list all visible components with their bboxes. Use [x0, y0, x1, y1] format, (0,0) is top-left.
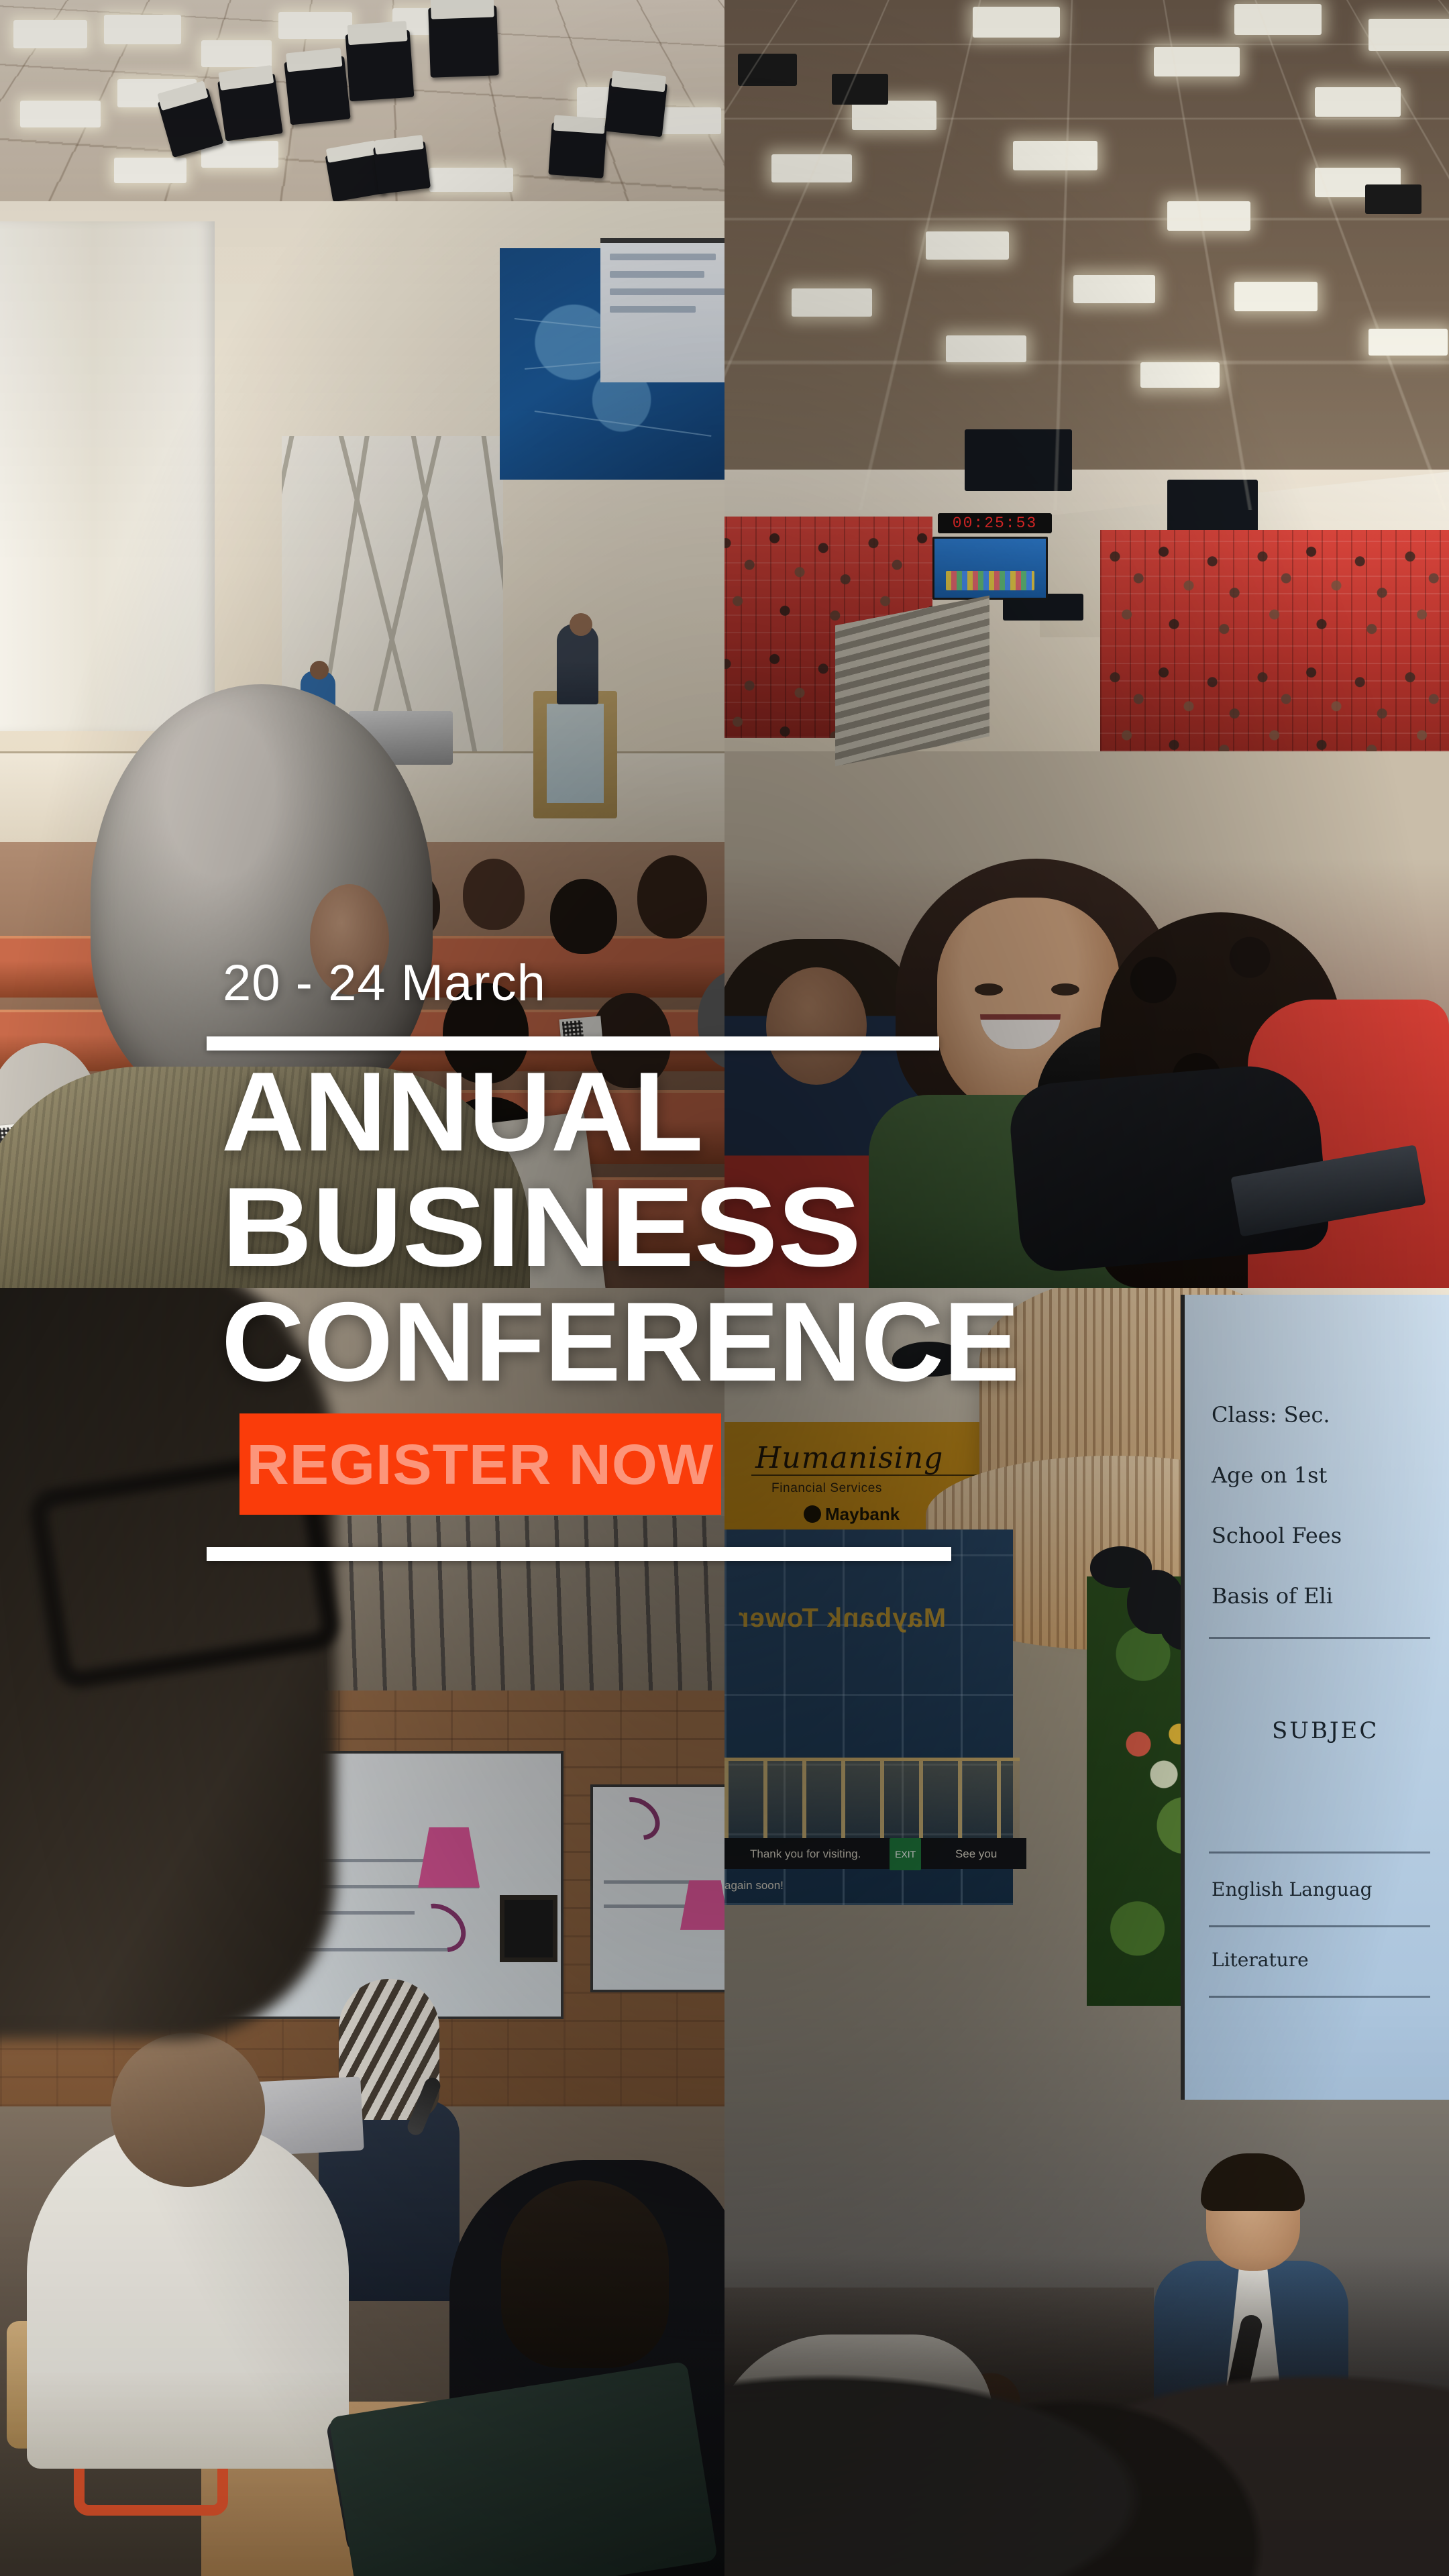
headline-line-conference: CONFERENCE [221, 1293, 1019, 1390]
poster-canvas: 00:25:53 [0, 0, 1449, 2576]
headline-line-annual: ANNUAL [221, 1063, 702, 1160]
register-now-button[interactable]: REGISTER NOW [239, 1413, 721, 1515]
poster-text-overlay: 20 - 24 March ANNUAL BUSINESS CONFERENCE… [0, 0, 1449, 2576]
headline-line-business: BUSINESS [221, 1179, 861, 1275]
register-now-label: REGISTER NOW [247, 1436, 714, 1493]
event-date: 20 - 24 March [223, 954, 546, 1012]
divider-rule-bottom [207, 1547, 951, 1561]
